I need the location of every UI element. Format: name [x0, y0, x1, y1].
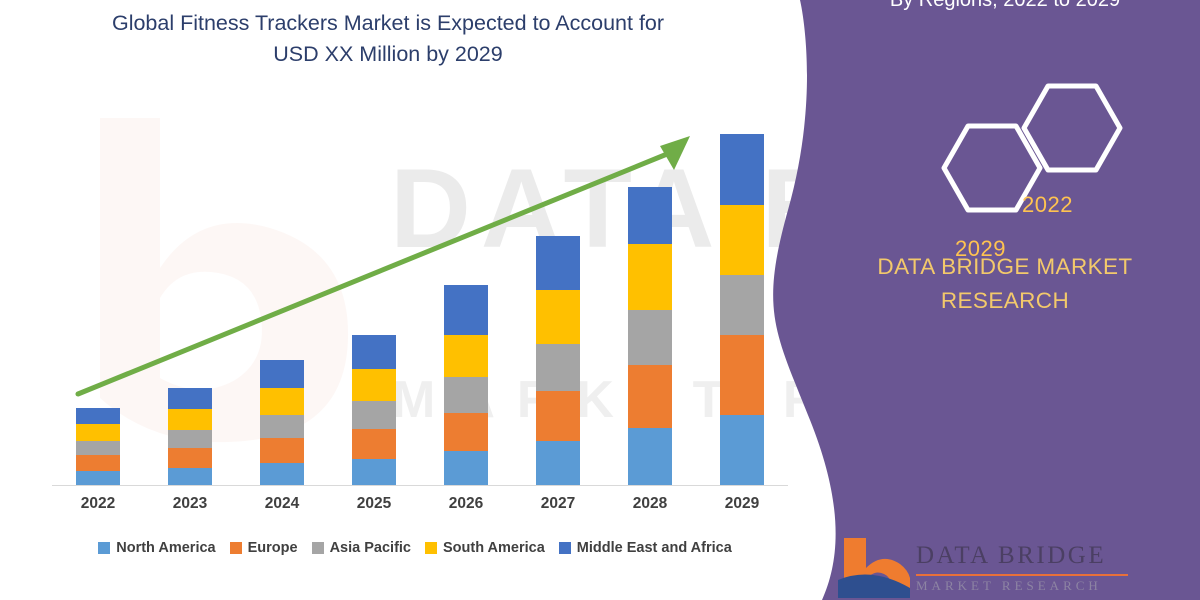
- logo-divider: [916, 574, 1128, 576]
- legend-swatch-icon: [425, 542, 437, 554]
- bar-segment: [444, 335, 488, 377]
- legend-label: South America: [443, 540, 545, 556]
- stacked-bars: [52, 120, 788, 485]
- bar-segment: [628, 428, 672, 485]
- bar-segment: [168, 409, 212, 430]
- x-axis-label-2023: 2023: [160, 495, 220, 513]
- bar-segment: [536, 236, 580, 290]
- bar-2027: [536, 236, 580, 485]
- legend-item[interactable]: Middle East and Africa: [559, 540, 732, 556]
- bar-segment: [444, 285, 488, 335]
- chart-title-line-1: Global Fitness Trackers Market is Expect…: [78, 8, 698, 39]
- bar-segment: [260, 463, 304, 485]
- bar-segment: [352, 459, 396, 485]
- bar-2022: [76, 408, 120, 485]
- bar-segment: [720, 415, 764, 485]
- bar-segment: [352, 335, 396, 369]
- legend-label: Europe: [248, 540, 298, 556]
- bar-segment: [444, 413, 488, 451]
- bar-segment: [536, 290, 580, 344]
- bar-segment: [76, 408, 120, 424]
- bar-segment: [260, 438, 304, 463]
- legend-swatch-icon: [312, 542, 324, 554]
- purple-side-panel: [770, 0, 1200, 600]
- chart-title-line-2: USD XX Million by 2029: [78, 39, 698, 70]
- logo-wordmark: DATA BRIDGE: [916, 542, 1106, 570]
- x-axis-label-2022: 2022: [68, 495, 128, 513]
- bar-2023: [168, 388, 212, 485]
- chart-title: Global Fitness Trackers Market is Expect…: [78, 8, 698, 70]
- legend-swatch-icon: [230, 542, 242, 554]
- bar-segment: [76, 471, 120, 485]
- company-logo: DATA BRIDGE MARKET RESEARCH: [838, 536, 1178, 600]
- bar-segment: [720, 335, 764, 415]
- x-axis-label-2024: 2024: [252, 495, 312, 513]
- bar-segment: [76, 441, 120, 455]
- x-axis-labels: 20222023202420252026202720282029: [52, 495, 788, 513]
- bar-2025: [352, 335, 396, 485]
- bar-segment: [260, 388, 304, 415]
- bar-segment: [352, 369, 396, 401]
- logo-tagline: MARKET RESEARCH: [916, 578, 1102, 594]
- chart-legend: North AmericaEuropeAsia PacificSouth Ame…: [50, 540, 780, 556]
- bar-segment: [168, 388, 212, 409]
- bar-segment: [628, 310, 672, 365]
- bar-2024: [260, 360, 304, 485]
- data-bridge-b-icon: [838, 536, 910, 598]
- infographic-canvas: DATA BRIDGE MARKET RESEARCH Global Fitne…: [0, 0, 1200, 600]
- bar-segment: [444, 451, 488, 485]
- bar-segment: [260, 360, 304, 388]
- x-axis-label-2028: 2028: [620, 495, 680, 513]
- bar-segment: [168, 430, 212, 448]
- legend-item[interactable]: North America: [98, 540, 215, 556]
- bar-segment: [352, 401, 396, 429]
- x-axis-line: [52, 485, 788, 486]
- bar-segment: [260, 415, 304, 438]
- bar-segment: [628, 187, 672, 244]
- bar-segment: [536, 441, 580, 485]
- legend-swatch-icon: [98, 542, 110, 554]
- bar-segment: [720, 134, 764, 205]
- bar-segment: [168, 448, 212, 468]
- bar-segment: [628, 244, 672, 310]
- bar-segment: [444, 377, 488, 413]
- x-axis-label-2026: 2026: [436, 495, 496, 513]
- legend-label: North America: [116, 540, 215, 556]
- bar-segment: [168, 468, 212, 485]
- legend-item[interactable]: Asia Pacific: [312, 540, 411, 556]
- bar-2026: [444, 285, 488, 485]
- bar-segment: [536, 391, 580, 441]
- legend-item[interactable]: Europe: [230, 540, 298, 556]
- chart-area: Global Fitness Trackers Market is Expect…: [0, 0, 800, 600]
- legend-label: Middle East and Africa: [577, 540, 732, 556]
- legend-item[interactable]: South America: [425, 540, 545, 556]
- legend-swatch-icon: [559, 542, 571, 554]
- legend-label: Asia Pacific: [330, 540, 411, 556]
- bar-segment: [76, 424, 120, 441]
- bar-segment: [536, 344, 580, 391]
- x-axis-label-2025: 2025: [344, 495, 404, 513]
- bar-2029: [720, 134, 764, 485]
- bar-segment: [76, 455, 120, 471]
- bar-segment: [720, 205, 764, 275]
- x-axis-label-2027: 2027: [528, 495, 588, 513]
- x-axis-label-2029: 2029: [712, 495, 772, 513]
- bar-segment: [720, 275, 764, 335]
- bar-segment: [628, 365, 672, 428]
- bar-segment: [352, 429, 396, 459]
- bar-2028: [628, 187, 672, 485]
